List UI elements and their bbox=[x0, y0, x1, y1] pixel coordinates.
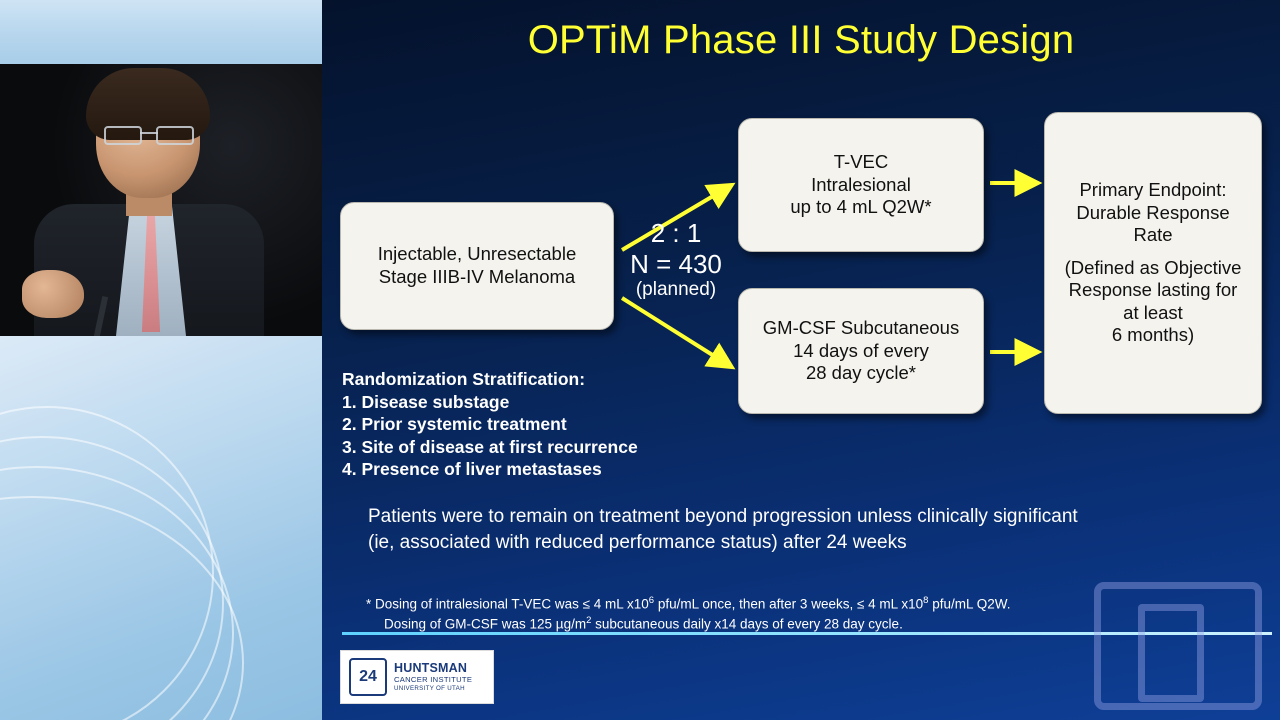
glasses-icon bbox=[104, 126, 194, 142]
logo-name: HUNTSMAN bbox=[394, 662, 472, 676]
stratification-heading: Randomization Stratification: bbox=[342, 368, 638, 391]
tvec-line-1: T-VEC bbox=[790, 151, 931, 174]
speaker-video-panel bbox=[0, 0, 322, 720]
endpoint-line-2: Durable Response bbox=[1065, 202, 1242, 225]
gmcsf-line-1: GM-CSF Subcutaneous bbox=[763, 317, 959, 340]
population-box: Injectable, Unresectable Stage IIIB-IV M… bbox=[340, 202, 614, 330]
planned-note: (planned) bbox=[618, 279, 734, 301]
speaker-hand bbox=[22, 270, 84, 318]
logo-sub: CANCER INSTITUTE bbox=[394, 675, 472, 684]
player-watermark-icon bbox=[1094, 582, 1262, 710]
speaker-video-frame bbox=[0, 64, 322, 336]
randomization-ratio: 2 : 1 N = 430 (planned) bbox=[618, 218, 734, 302]
tvec-line-3: up to 4 mL Q2W* bbox=[790, 196, 931, 219]
gmcsf-line-3: 28 day cycle* bbox=[763, 362, 959, 385]
video-top-band bbox=[0, 0, 322, 64]
population-line-2: Stage IIIB-IV Melanoma bbox=[378, 266, 576, 289]
treatment-note: Patients were to remain on treatment bey… bbox=[368, 504, 1078, 556]
sample-size: N = 430 bbox=[618, 249, 734, 280]
endpoint-line-5: Response lasting for bbox=[1065, 279, 1242, 302]
logo-affiliation: UNIVERSITY OF UTAH bbox=[394, 685, 472, 693]
footnote-text-b: pfu/mL once, then after 3 weeks, ≤ 4 mL … bbox=[654, 597, 923, 612]
stratification-item: 4. Presence of liver metastases bbox=[342, 458, 638, 481]
treatment-note-line-2: (ie, associated with reduced performance… bbox=[368, 530, 1078, 556]
footnote-line-1: * Dosing of intralesional T-VEC was ≤ 4 … bbox=[366, 594, 1010, 614]
stratification-item: 3. Site of disease at first recurrence bbox=[342, 436, 638, 459]
footnote: * Dosing of intralesional T-VEC was ≤ 4 … bbox=[366, 594, 1010, 634]
tvec-line-2: Intralesional bbox=[790, 174, 931, 197]
endpoint-line-7: 6 months) bbox=[1065, 324, 1242, 347]
footnote-text-a: * Dosing of intralesional T-VEC was ≤ 4 … bbox=[366, 597, 649, 612]
endpoint-line-1: Primary Endpoint: bbox=[1065, 179, 1242, 202]
video-bottom-graphic bbox=[0, 336, 322, 720]
slide-title: OPTiM Phase III Study Design bbox=[322, 18, 1280, 63]
stratification-list: Randomization Stratification: 1. Disease… bbox=[342, 368, 638, 481]
gmcsf-line-2: 14 days of every bbox=[763, 340, 959, 363]
footnote2-text-b: subcutaneous daily x14 days of every 28 … bbox=[591, 617, 902, 632]
endpoint-line-4: (Defined as Objective bbox=[1065, 257, 1242, 280]
tvec-arm-box: T-VEC Intralesional up to 4 mL Q2W* bbox=[738, 118, 984, 252]
gmcsf-arm-box: GM-CSF Subcutaneous 14 days of every 28 … bbox=[738, 288, 984, 414]
footnote2-text-a: Dosing of GM-CSF was 125 µg/m bbox=[384, 617, 586, 632]
endpoint-line-6: at least bbox=[1065, 302, 1242, 325]
logo-text: HUNTSMAN CANCER INSTITUTE UNIVERSITY OF … bbox=[394, 662, 472, 693]
endpoint-line-3: Rate bbox=[1065, 224, 1242, 247]
stratification-item: 2. Prior systemic treatment bbox=[342, 413, 638, 436]
stratification-item: 1. Disease substage bbox=[342, 391, 638, 414]
logo-mark-icon: 24 bbox=[349, 658, 387, 696]
footnote-text-c: pfu/mL Q2W. bbox=[928, 597, 1010, 612]
treatment-note-line-1: Patients were to remain on treatment bey… bbox=[368, 504, 1078, 530]
ratio-value: 2 : 1 bbox=[618, 218, 734, 249]
slide-area: OPTiM Phase III Study Design Injectable,… bbox=[322, 0, 1280, 720]
huntsman-cancer-institute-logo: 24 HUNTSMAN CANCER INSTITUTE UNIVERSITY … bbox=[340, 650, 494, 704]
primary-endpoint-box: Primary Endpoint: Durable Response Rate … bbox=[1044, 112, 1262, 414]
population-line-1: Injectable, Unresectable bbox=[378, 243, 576, 266]
presentation-screenshot: OPTiM Phase III Study Design Injectable,… bbox=[0, 0, 1280, 720]
